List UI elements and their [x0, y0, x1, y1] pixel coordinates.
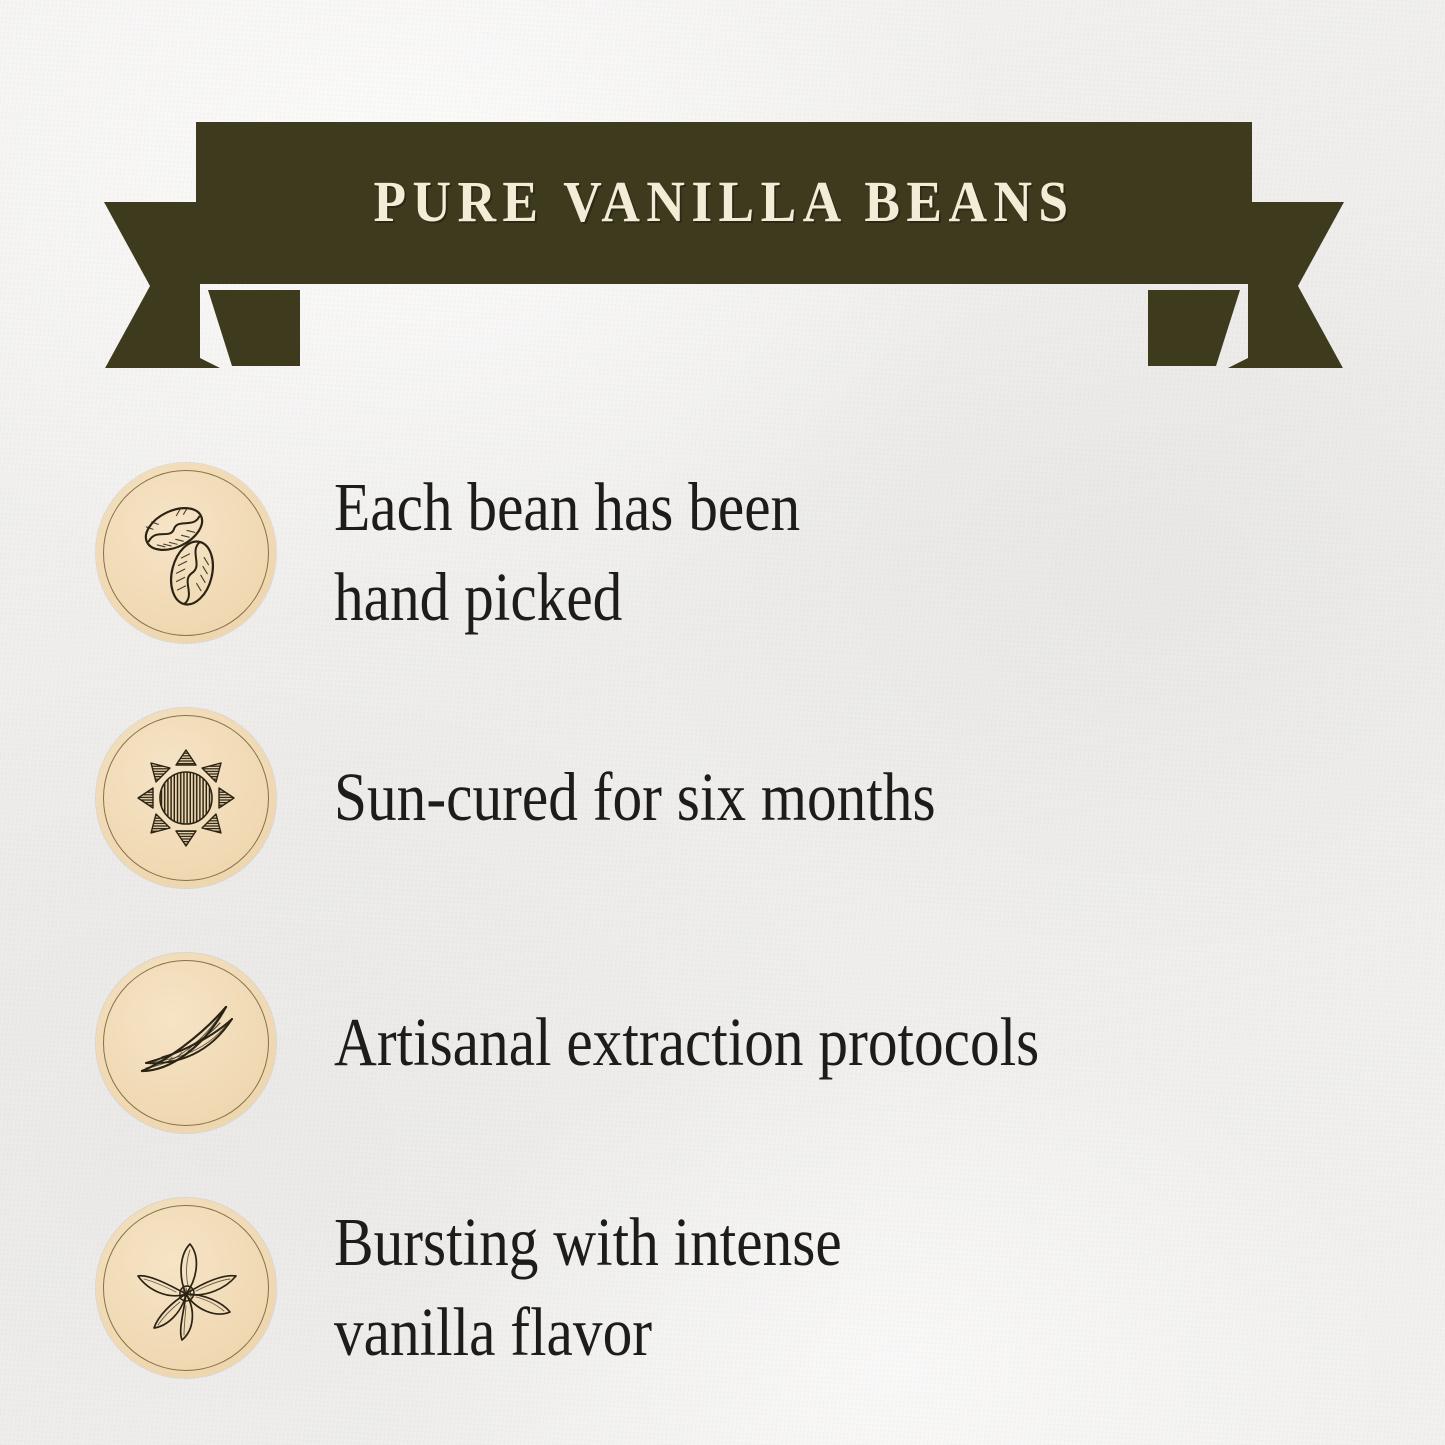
list-item: Each bean has been hand picked [0, 430, 1445, 675]
feature-list: Each bean has been hand picked [0, 430, 1445, 1410]
ribbon-right-fold [1148, 290, 1240, 366]
vanilla-pods-icon [122, 979, 250, 1107]
feature-label: Each bean has been hand picked [334, 463, 1255, 642]
product-feature-panel: PURE VANILLA BEANS [0, 0, 1445, 1445]
ribbon-left-fold [208, 290, 300, 366]
list-item: Artisanal extraction protocols [0, 920, 1445, 1165]
sun-icon [122, 734, 250, 862]
feature-label: Artisanal extraction protocols [334, 998, 1255, 1088]
coffee-beans-icon [122, 489, 250, 617]
ribbon-banner: PURE VANILLA BEANS [104, 118, 1344, 368]
page-title: PURE VANILLA BEANS [242, 118, 1206, 284]
feature-label: Sun-cured for six months [334, 753, 1255, 843]
vanilla-flower-icon-badge [96, 1198, 276, 1378]
vanilla-pods-icon-badge [96, 953, 276, 1133]
list-item: Sun-cured for six months [0, 675, 1445, 920]
vanilla-flower-icon [122, 1224, 250, 1352]
feature-label: Bursting with intense vanilla flavor [334, 1198, 1255, 1377]
list-item: Bursting with intense vanilla flavor [0, 1165, 1445, 1410]
sun-icon-badge [96, 708, 276, 888]
coffee-beans-icon-badge [96, 463, 276, 643]
